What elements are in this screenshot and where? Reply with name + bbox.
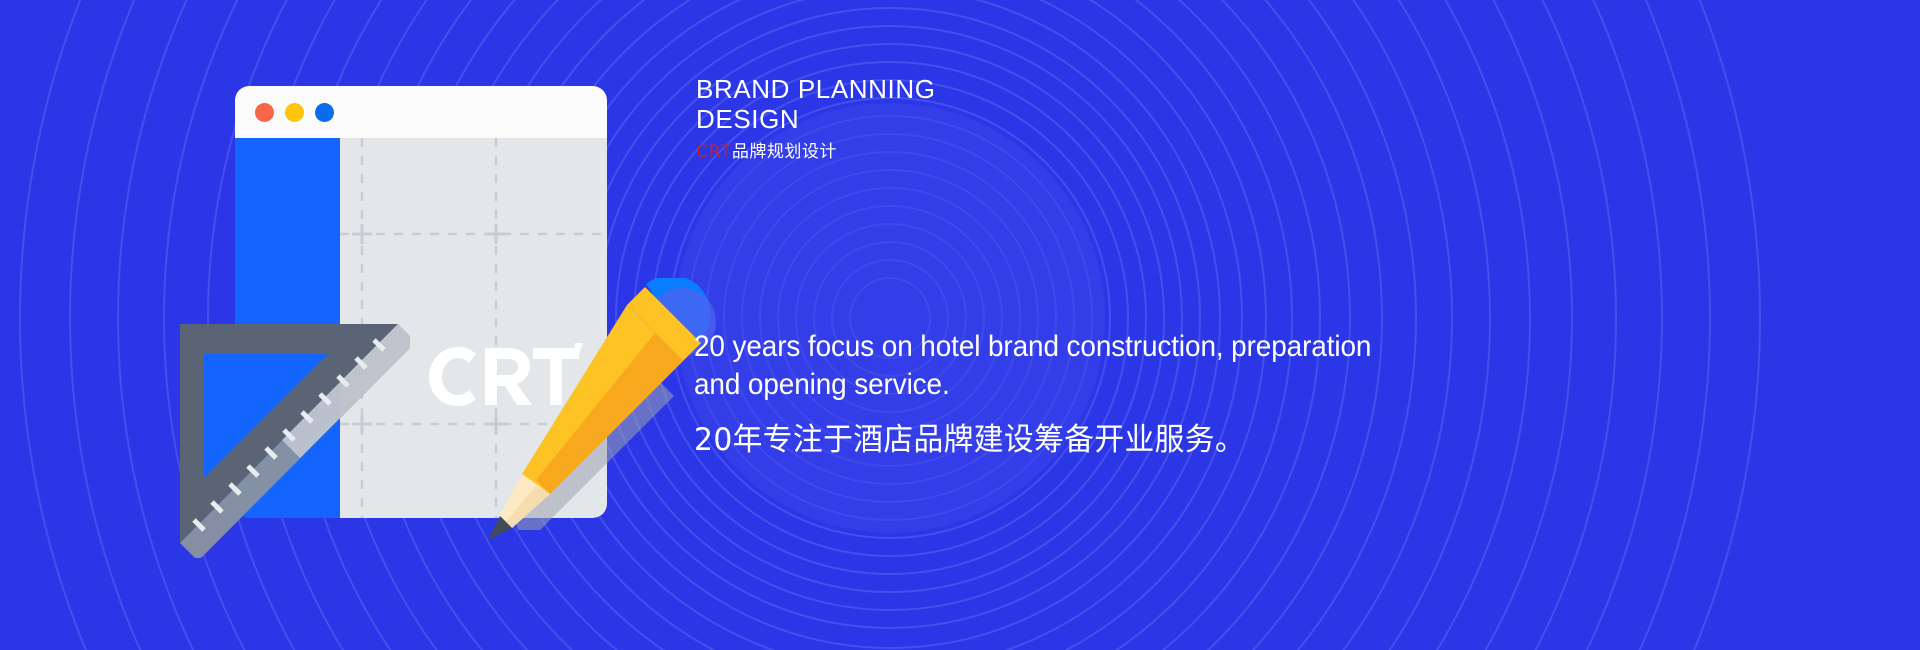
headline-chinese: CRT品牌规划设计 [696,141,1396,163]
pencil [478,278,728,568]
brand-name: CRT [696,142,732,162]
minimize-dot[interactable] [285,103,304,122]
tagline-english: 20 years focus on hotel brand constructi… [694,328,1401,404]
window-title-bar [235,86,607,138]
maximize-dot[interactable] [315,103,334,122]
tagline-block: 20 years focus on hotel brand constructi… [694,328,1454,460]
tagline-chinese: 20年专注于酒店品牌建设筹备开业服务。 [694,420,1424,460]
headline-english: BRAND PLANNING DESIGN [696,74,1396,134]
headline-chinese-text: 品牌规划设计 [732,142,837,162]
headline-block: BRAND PLANNING DESIGN CRT品牌规划设计 [696,74,1396,163]
close-dot[interactable] [255,103,274,122]
design-illustration [180,60,720,580]
set-square-ruler [150,318,410,558]
promo-banner: BRAND PLANNING DESIGN CRT品牌规划设计 20 years… [0,0,1920,650]
